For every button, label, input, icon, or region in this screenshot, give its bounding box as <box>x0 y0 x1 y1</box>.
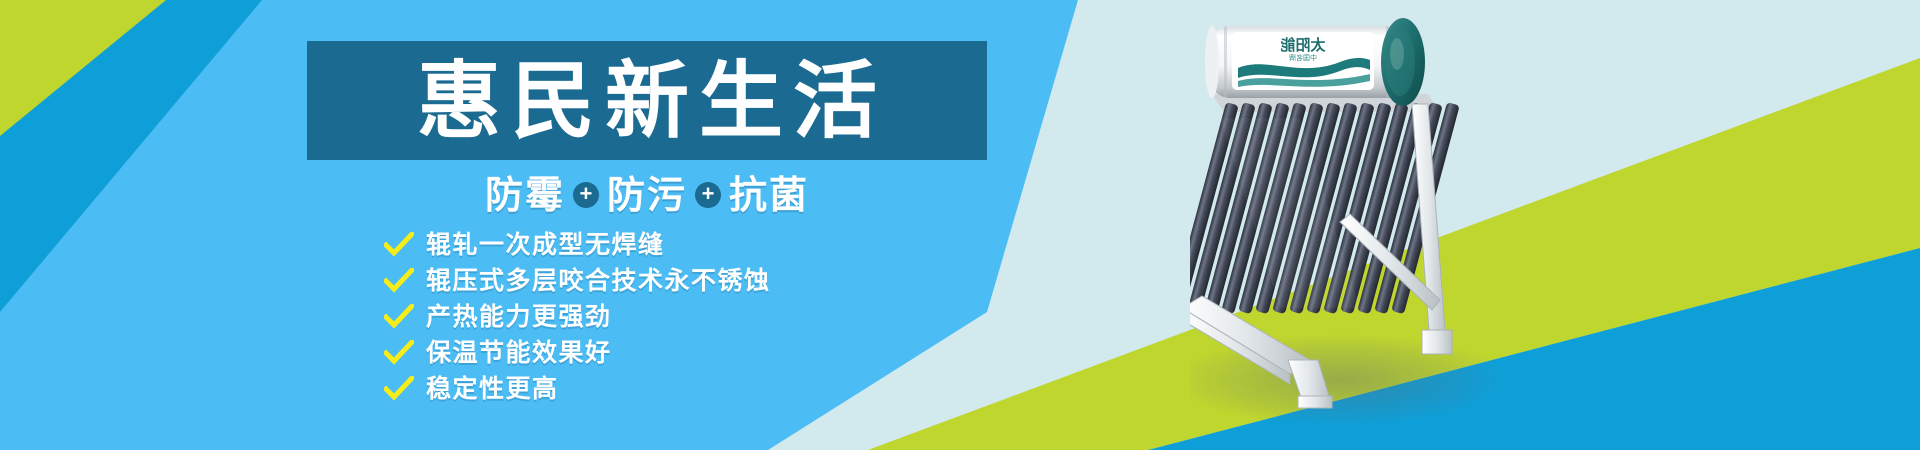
list-item: 辊压式多层咬合技术永不锈蚀 <box>384 264 771 297</box>
list-item: 保温节能效果好 <box>384 336 771 369</box>
promo-banner: 惠民新生活 防霉 + 防污 + 抗菌 辊轧一次成型无焊缝 辊压式多层咬合技术永不… <box>0 0 1920 450</box>
subtitle-word-3: 抗菌 <box>729 176 809 214</box>
solar-water-heater-image: 太阳能 中国名牌 <box>1190 8 1610 442</box>
subtitle-word-1: 防霉 <box>485 176 565 214</box>
feature-label: 辊轧一次成型无焊缝 <box>426 232 665 257</box>
tank-label-text: 太阳能 <box>1280 36 1325 54</box>
check-icon <box>384 376 414 402</box>
subtitle-word-2: 防污 <box>607 176 687 214</box>
tank-assembly: 太阳能 中国名牌 <box>1205 18 1425 106</box>
check-icon <box>384 340 414 366</box>
feature-list: 辊轧一次成型无焊缝 辊压式多层咬合技术永不锈蚀 产热能力更强劲 保温节能效果好 <box>384 228 771 405</box>
feature-label: 辊压式多层咬合技术永不锈蚀 <box>426 268 771 293</box>
list-item: 产热能力更强劲 <box>384 300 771 333</box>
list-item: 稳定性更高 <box>384 372 771 405</box>
plus-icon: + <box>573 182 599 208</box>
list-item: 辊轧一次成型无焊缝 <box>384 228 771 261</box>
check-icon <box>384 304 414 330</box>
feature-label: 保温节能效果好 <box>426 340 612 365</box>
plus-icon: + <box>695 182 721 208</box>
tank-label-subtext: 中国名牌 <box>1289 53 1317 62</box>
page-title: 惠民新生活 <box>407 59 887 143</box>
feature-label: 稳定性更高 <box>426 376 559 401</box>
feature-label: 产热能力更强劲 <box>426 304 612 329</box>
title-plate: 惠民新生活 <box>307 41 987 160</box>
check-icon <box>384 268 414 294</box>
check-icon <box>384 232 414 258</box>
subtitle-row: 防霉 + 防污 + 抗菌 <box>307 176 987 214</box>
